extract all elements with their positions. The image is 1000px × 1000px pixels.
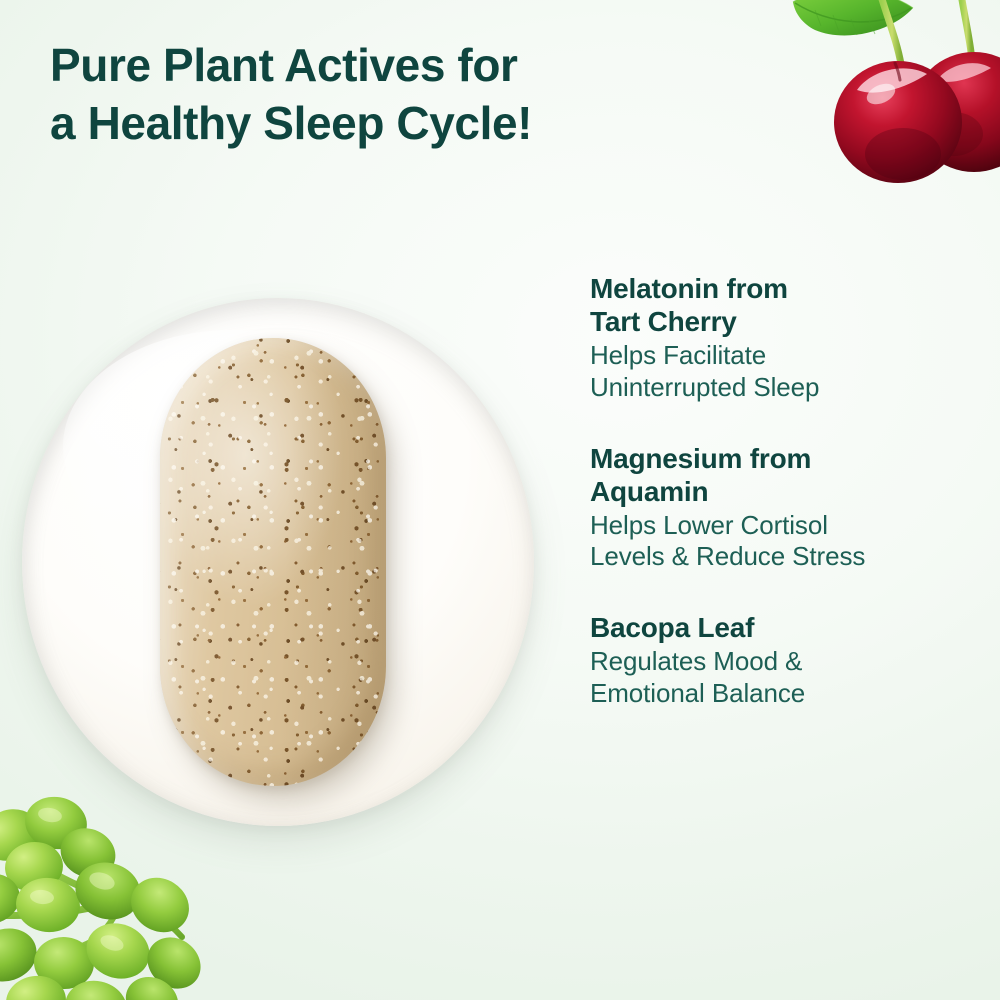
benefit-title-line-1: Bacopa Leaf: [590, 612, 754, 643]
green-sprout-image: [0, 795, 234, 1000]
benefit-item-bacopa: Bacopa Leaf Regulates Mood & Emotional B…: [590, 611, 965, 709]
benefit-desc-line-2: Uninterrupted Sleep: [590, 372, 819, 402]
benefit-title: Melatonin from Tart Cherry: [590, 272, 965, 338]
benefit-description: Regulates Mood & Emotional Balance: [590, 646, 965, 709]
tablet-shading: [160, 338, 386, 786]
benefit-title-line-2: Tart Cherry: [590, 306, 737, 337]
benefit-desc-line-1: Helps Lower Cortisol: [590, 510, 828, 540]
headline-line-1: Pure Plant Actives for: [50, 40, 670, 92]
headline-line-2: a Healthy Sleep Cycle!: [50, 98, 670, 150]
benefit-title: Bacopa Leaf: [590, 611, 965, 644]
tart-cherries-image: [785, 0, 1000, 194]
benefit-title-line-1: Melatonin from: [590, 273, 788, 304]
benefit-description: Helps Lower Cortisol Levels & Reduce Str…: [590, 510, 965, 573]
benefit-description: Helps Facilitate Uninterrupted Sleep: [590, 340, 965, 403]
cherry-left: [834, 61, 962, 183]
tablet-caplet-image: [160, 338, 386, 786]
benefit-title-line-2: Aquamin: [590, 476, 708, 507]
product-image-circle: [22, 298, 534, 828]
benefits-list: Melatonin from Tart Cherry Helps Facilit…: [590, 272, 965, 709]
benefit-desc-line-2: Levels & Reduce Stress: [590, 541, 865, 571]
benefit-desc-line-2: Emotional Balance: [590, 678, 805, 708]
infographic-canvas: Pure Plant Actives for a Healthy Sleep C…: [0, 0, 1000, 1000]
benefit-desc-line-1: Regulates Mood &: [590, 646, 802, 676]
benefit-title-line-1: Magnesium from: [590, 443, 811, 474]
benefit-item-melatonin: Melatonin from Tart Cherry Helps Facilit…: [590, 272, 965, 404]
benefit-desc-line-1: Helps Facilitate: [590, 340, 766, 370]
page-title: Pure Plant Actives for a Healthy Sleep C…: [50, 40, 670, 149]
cherry-stem-right: [961, 0, 971, 52]
benefit-item-magnesium: Magnesium from Aquamin Helps Lower Corti…: [590, 442, 965, 574]
benefit-title: Magnesium from Aquamin: [590, 442, 965, 508]
